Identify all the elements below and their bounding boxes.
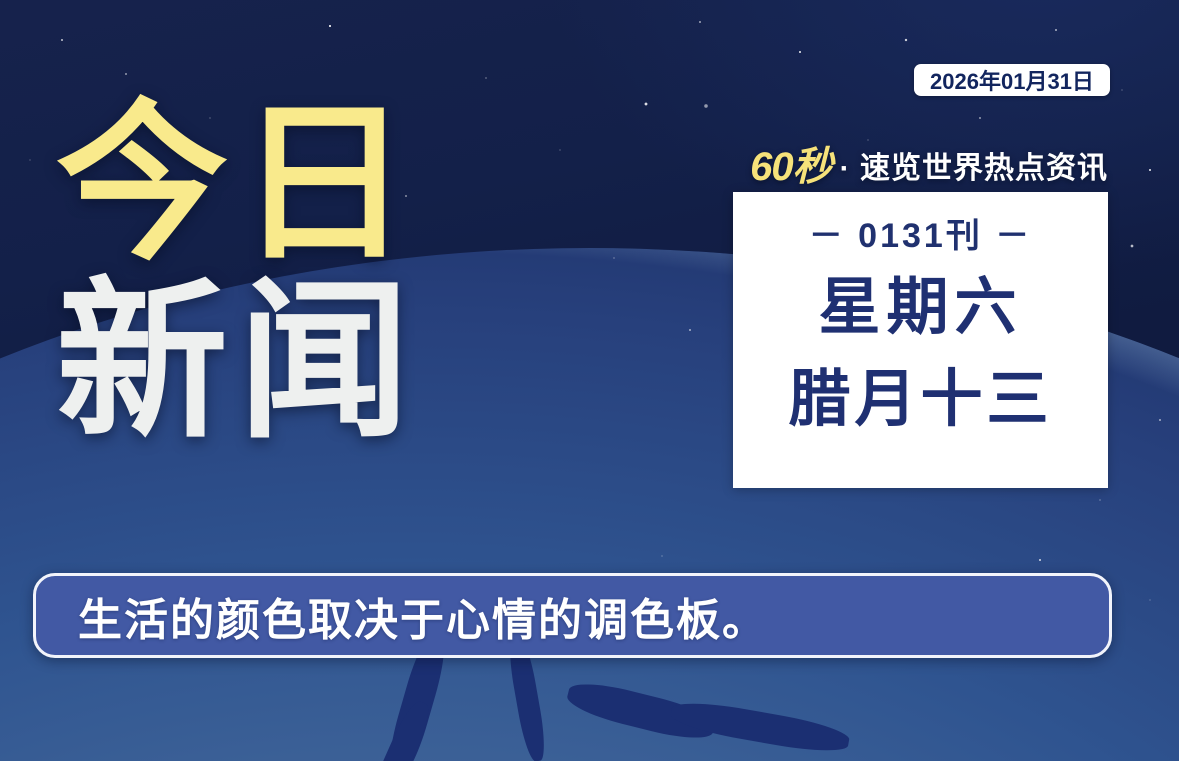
tagline: 60秒 · 速览世界热点资讯 — [733, 140, 1108, 186]
quote-text: 生活的颜色取决于心情的调色板。 — [78, 584, 768, 648]
card-lunar-date: 腊月十三 — [788, 369, 1052, 431]
news-poster: 今日 新闻 2026年01月31日 60秒 · 速览世界热点资讯 － 0131刊… — [0, 0, 1179, 761]
title-line-today: 今日 — [56, 98, 420, 270]
card-weekday: 星期六 — [818, 277, 1022, 339]
title-line-news: 新闻 — [56, 276, 420, 448]
quote-bar: 生活的颜色取决于心情的调色板。 — [33, 573, 1112, 658]
poster-title: 今日 新闻 — [56, 98, 420, 448]
tagline-seconds: 60秒 — [750, 134, 832, 192]
card-issue-number: － 0131刊 － — [809, 208, 1033, 257]
date-badge: 2026年01月31日 — [914, 64, 1110, 96]
tagline-description: · 速览世界热点资讯 — [840, 143, 1108, 187]
info-card: － 0131刊 － 星期六 腊月十三 — [733, 192, 1108, 488]
